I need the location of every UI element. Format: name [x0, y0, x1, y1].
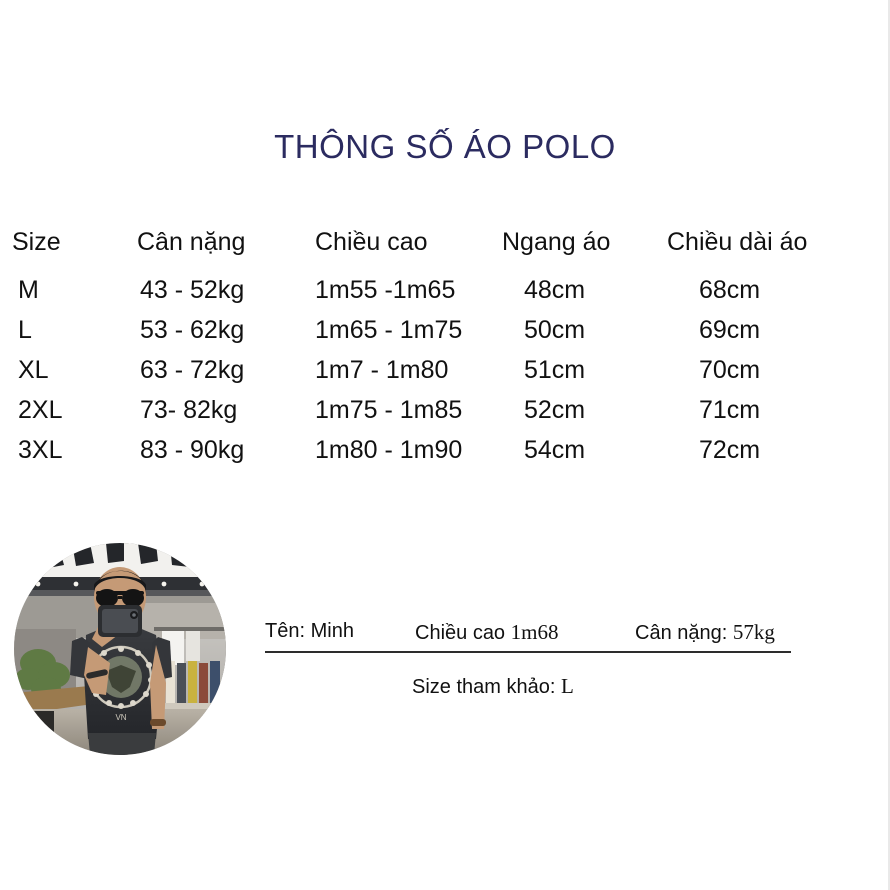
table-header-row: Size Cân nặng Chiều cao Ngang áo Chiều d… — [0, 220, 890, 270]
reference-size-label: Size tham khảo: — [412, 676, 555, 698]
column-header-chest-width: Ngang áo — [502, 220, 667, 270]
cell-chest-width: 48cm — [502, 270, 667, 310]
cell-weight: 53 - 62kg — [137, 310, 315, 350]
cell-chest-width: 51cm — [502, 350, 667, 390]
size-spec-table: Size Cân nặng Chiều cao Ngang áo Chiều d… — [0, 220, 890, 470]
cell-chest-width: 50cm — [502, 310, 667, 350]
model-photo-image: VN — [14, 543, 226, 755]
column-header-weight: Cân nặng — [137, 220, 315, 270]
reference-size-value: L — [561, 674, 574, 698]
table-body: M 43 - 52kg 1m55 -1m65 48cm 68cm L 53 - … — [0, 270, 890, 470]
cell-weight: 63 - 72kg — [137, 350, 315, 390]
column-header-shirt-length: Chiều dài áo — [667, 220, 890, 270]
column-header-size: Size — [0, 220, 137, 270]
size-chart-page: THÔNG SỐ ÁO POLO Size Cân nặng Chiều cao… — [0, 0, 890, 890]
cell-height: 1m75 - 1m85 — [315, 390, 502, 430]
cell-chest-width: 52cm — [502, 390, 667, 430]
cell-size: 2XL — [0, 390, 137, 430]
page-title: THÔNG SỐ ÁO POLO — [0, 128, 890, 166]
model-height: Chiều cao 1m68 — [415, 620, 558, 645]
cell-height: 1m65 - 1m75 — [315, 310, 502, 350]
table-row: M 43 - 52kg 1m55 -1m65 48cm 68cm — [0, 270, 890, 310]
model-name-label: Tên: — [265, 620, 305, 642]
model-weight: Cân nặng: 57kg — [635, 620, 775, 645]
table-row: 2XL 73- 82kg 1m75 - 1m85 52cm 71cm — [0, 390, 890, 430]
table-header: Size Cân nặng Chiều cao Ngang áo Chiều d… — [0, 220, 890, 270]
model-height-label: Chiều cao — [415, 622, 505, 644]
cell-height: 1m80 - 1m90 — [315, 430, 502, 470]
model-height-value: 1m68 — [511, 620, 559, 644]
model-reference-info: Tên: Minh Chiều cao 1m68 Cân nặng: 57kg … — [263, 612, 823, 707]
cell-size: 3XL — [0, 430, 137, 470]
info-divider — [265, 651, 791, 653]
cell-size: L — [0, 310, 137, 350]
table-row: XL 63 - 72kg 1m7 - 1m80 51cm 70cm — [0, 350, 890, 390]
cell-weight: 43 - 52kg — [137, 270, 315, 310]
model-name: Tên: Minh — [265, 620, 354, 643]
cell-shirt-length: 68cm — [667, 270, 890, 310]
cell-weight: 73- 82kg — [137, 390, 315, 430]
cell-size: M — [0, 270, 137, 310]
table-row: 3XL 83 - 90kg 1m80 - 1m90 54cm 72cm — [0, 430, 890, 470]
cell-chest-width: 54cm — [502, 430, 667, 470]
cell-height: 1m7 - 1m80 — [315, 350, 502, 390]
model-weight-label: Cân nặng: — [635, 622, 727, 644]
model-photo: VN — [14, 543, 226, 755]
model-reference-size: Size tham khảo: L — [412, 674, 574, 699]
cell-shirt-length: 72cm — [667, 430, 890, 470]
svg-text:VN: VN — [115, 713, 126, 722]
model-name-value: Minh — [311, 620, 354, 642]
cell-shirt-length: 70cm — [667, 350, 890, 390]
cell-size: XL — [0, 350, 137, 390]
model-weight-value: 57kg — [733, 620, 775, 644]
column-header-height: Chiều cao — [315, 220, 502, 270]
cell-height: 1m55 -1m65 — [315, 270, 502, 310]
cell-shirt-length: 71cm — [667, 390, 890, 430]
cell-weight: 83 - 90kg — [137, 430, 315, 470]
table-row: L 53 - 62kg 1m65 - 1m75 50cm 69cm — [0, 310, 890, 350]
cell-shirt-length: 69cm — [667, 310, 890, 350]
